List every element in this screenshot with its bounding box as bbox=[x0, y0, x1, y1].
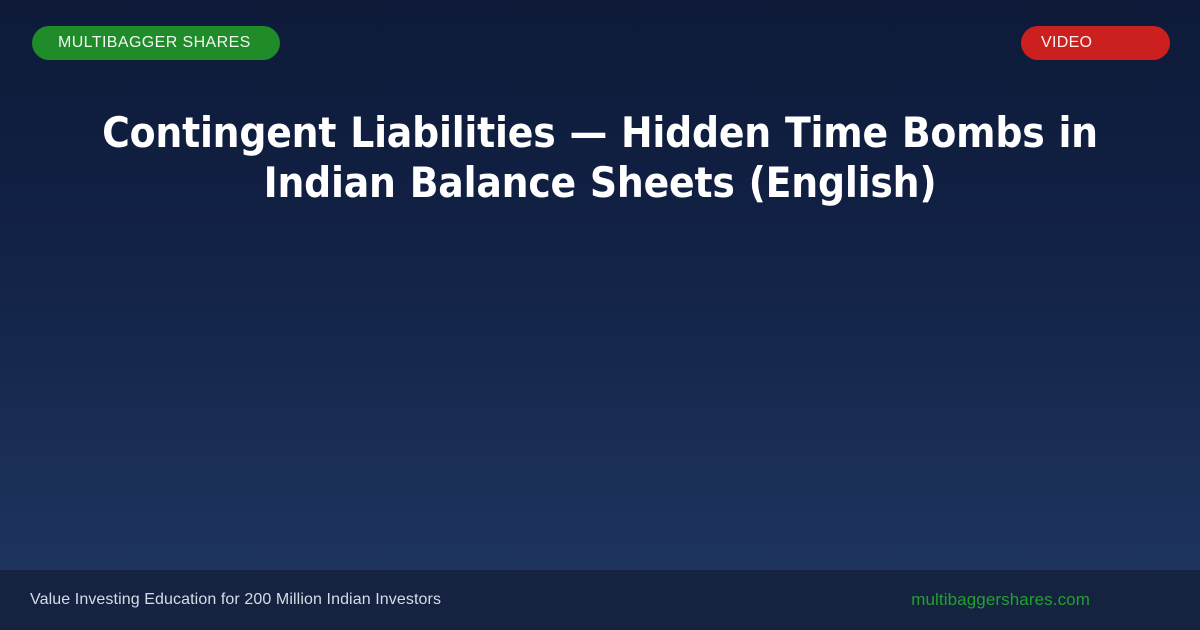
headline-container: Contingent Liabilities — Hidden Time Bom… bbox=[100, 108, 1100, 208]
badge-row: MULTIBAGGER SHARES VIDEO bbox=[0, 0, 1200, 86]
content-type-badge[interactable]: VIDEO bbox=[1021, 26, 1170, 60]
social-share-card: MULTIBAGGER SHARES VIDEO Contingent Liab… bbox=[0, 0, 1200, 630]
footer-bar: Value Investing Education for 200 Millio… bbox=[0, 570, 1200, 630]
footer-tagline: Value Investing Education for 200 Millio… bbox=[30, 591, 441, 609]
category-badge[interactable]: MULTIBAGGER SHARES bbox=[32, 26, 280, 60]
content-type-badge-label: VIDEO bbox=[1041, 34, 1092, 52]
category-badge-label: MULTIBAGGER SHARES bbox=[58, 34, 251, 52]
footer-domain-link[interactable]: multibaggershares.com bbox=[911, 590, 1090, 610]
page-title: Contingent Liabilities — Hidden Time Bom… bbox=[100, 108, 1100, 208]
